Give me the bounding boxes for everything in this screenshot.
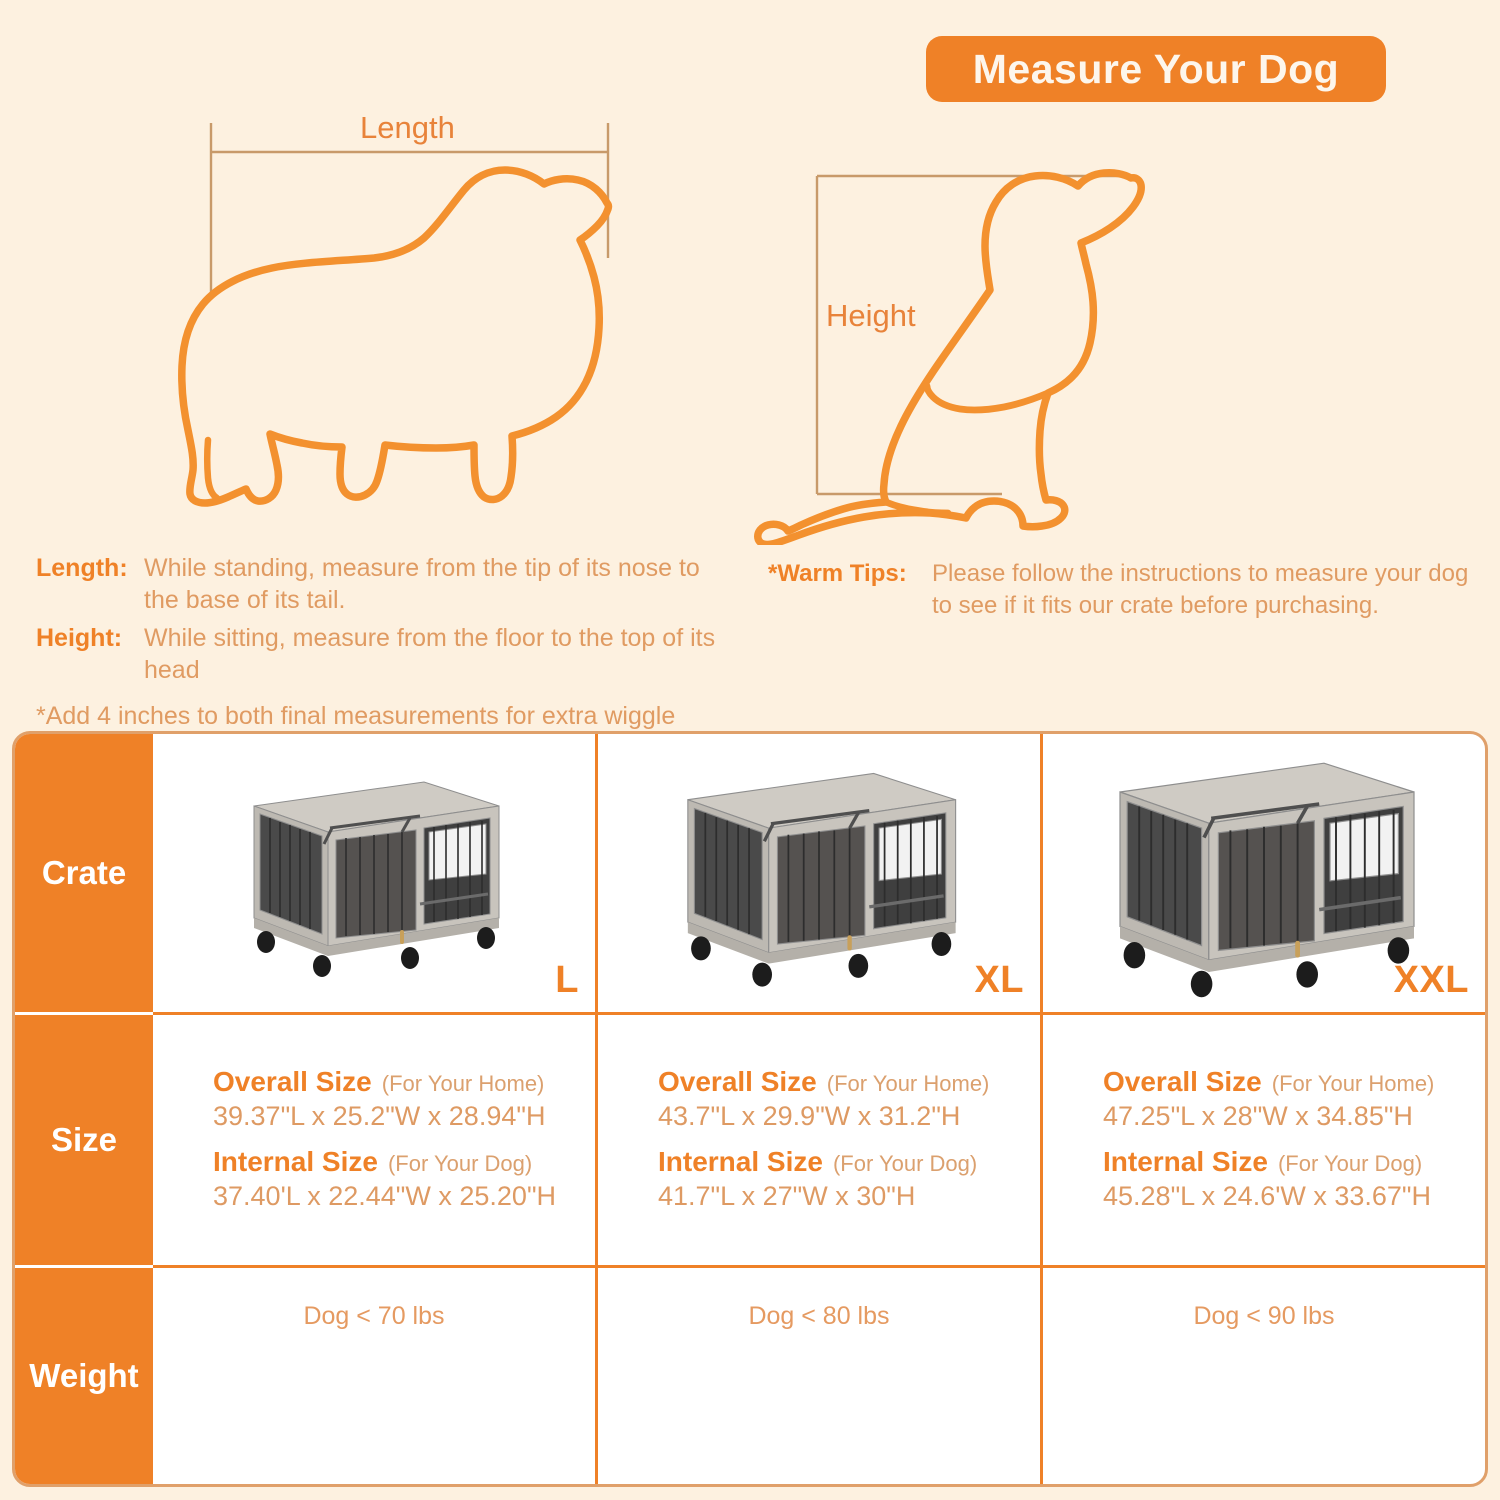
overall-size-heading-xxl: Overall Size (For Your Home) (1103, 1066, 1485, 1098)
size-cell-xl: Overall Size (For Your Home) 43.7"L x 29… (598, 1015, 1043, 1265)
weight-cell-l: Dog < 70 lbs (153, 1268, 598, 1484)
dog-crate-furniture-icon (644, 756, 994, 991)
size-cell-xxl: Overall Size (For Your Home) 47.25"L x 2… (1043, 1015, 1485, 1265)
row-label-size: Size (15, 1015, 153, 1268)
height-dimension-line (817, 176, 1122, 494)
instruction-height-text: While sitting, measure from the floor to… (144, 622, 736, 686)
weight-value-l: Dog < 70 lbs (303, 1302, 444, 1331)
internal-size-paren: (For Your Dog) (388, 1151, 532, 1177)
internal-size-label: Internal Size (1103, 1146, 1268, 1178)
spec-table-row-labels: Crate Size Weight (15, 734, 153, 1484)
overall-size-label: Overall Size (658, 1066, 817, 1098)
sitting-dog-outline-icon (758, 173, 1141, 545)
instruction-height: Height: While sitting, measure from the … (36, 622, 736, 686)
overall-size-heading-l: Overall Size (For Your Home) (213, 1066, 595, 1098)
warm-tips: *Warm Tips: Please follow the instructio… (768, 558, 1484, 621)
crate-cell-l: L (153, 734, 598, 1012)
weight-cell-xxl: Dog < 90 lbs (1043, 1268, 1485, 1484)
internal-size-value-l: 37.40'L x 22.44"W x 25.20"H (213, 1180, 595, 1214)
size-cell-l: Overall Size (For Your Home) 39.37"L x 2… (153, 1015, 598, 1265)
internal-size-paren: (For Your Dog) (1278, 1151, 1422, 1177)
internal-size-label: Internal Size (658, 1146, 823, 1178)
internal-size-paren: (For Your Dog) (833, 1151, 977, 1177)
overall-size-label: Overall Size (1103, 1066, 1262, 1098)
spec-table-body: L (153, 734, 1485, 1484)
standing-dog-outline-icon (182, 170, 609, 503)
dog-crate-furniture-icon (224, 766, 524, 981)
overall-size-paren: (For Your Home) (827, 1071, 990, 1097)
instruction-length-text: While standing, measure from the tip of … (144, 552, 736, 616)
dog-outline-graphics (0, 0, 1500, 545)
overall-size-label: Overall Size (213, 1066, 372, 1098)
crate-cell-xl: XL (598, 734, 1043, 1012)
size-tag-xl: XL (974, 959, 1024, 1002)
instruction-length-key: Length: (36, 552, 144, 616)
overall-size-value-xxl: 47.25"L x 28"W x 34.85"H (1103, 1100, 1485, 1134)
row-label-weight: Weight (15, 1268, 153, 1484)
measurement-illustrations: Length Height (0, 0, 1500, 545)
overall-size-heading-xl: Overall Size (For Your Home) (658, 1066, 1040, 1098)
weight-value-xxl: Dog < 90 lbs (1193, 1302, 1334, 1331)
length-dimension-label: Length (360, 110, 455, 146)
warm-tips-key: *Warm Tips: (768, 558, 932, 621)
row-label-crate: Crate (15, 734, 153, 1015)
internal-size-value-xxl: 45.28"L x 24.6'W x 33.67"H (1103, 1180, 1485, 1214)
instruction-height-key: Height: (36, 622, 144, 686)
internal-size-value-xl: 41.7"L x 27"W x 30"H (658, 1180, 1040, 1214)
spec-table: Crate Size Weight (12, 731, 1488, 1487)
crate-image-row: L (153, 734, 1485, 1015)
infographic-page: Measure Your Dog (0, 0, 1500, 1500)
overall-size-paren: (For Your Home) (1272, 1071, 1435, 1097)
crate-cell-xxl: XXL (1043, 734, 1485, 1012)
internal-size-heading-xxl: Internal Size (For Your Dog) (1103, 1146, 1485, 1178)
weight-spec-row: Dog < 70 lbs Dog < 80 lbs Dog < 90 lbs (153, 1268, 1485, 1484)
size-tag-l: L (555, 959, 579, 1002)
internal-size-heading-l: Internal Size (For Your Dog) (213, 1146, 595, 1178)
size-tag-xxl: XXL (1394, 959, 1469, 1002)
weight-value-xl: Dog < 80 lbs (748, 1302, 889, 1331)
internal-size-heading-xl: Internal Size (For Your Dog) (658, 1146, 1040, 1178)
height-dimension-label: Height (826, 298, 916, 334)
weight-cell-xl: Dog < 80 lbs (598, 1268, 1043, 1484)
internal-size-label: Internal Size (213, 1146, 378, 1178)
overall-size-value-l: 39.37"L x 25.2"W x 28.94"H (213, 1100, 595, 1134)
overall-size-paren: (For Your Home) (382, 1071, 545, 1097)
instruction-length: Length: While standing, measure from the… (36, 552, 736, 616)
warm-tips-text: Please follow the instructions to measur… (932, 558, 1484, 621)
size-spec-row: Overall Size (For Your Home) 39.37"L x 2… (153, 1015, 1485, 1268)
overall-size-value-xl: 43.7"L x 29.9"W x 31.2"H (658, 1100, 1040, 1134)
